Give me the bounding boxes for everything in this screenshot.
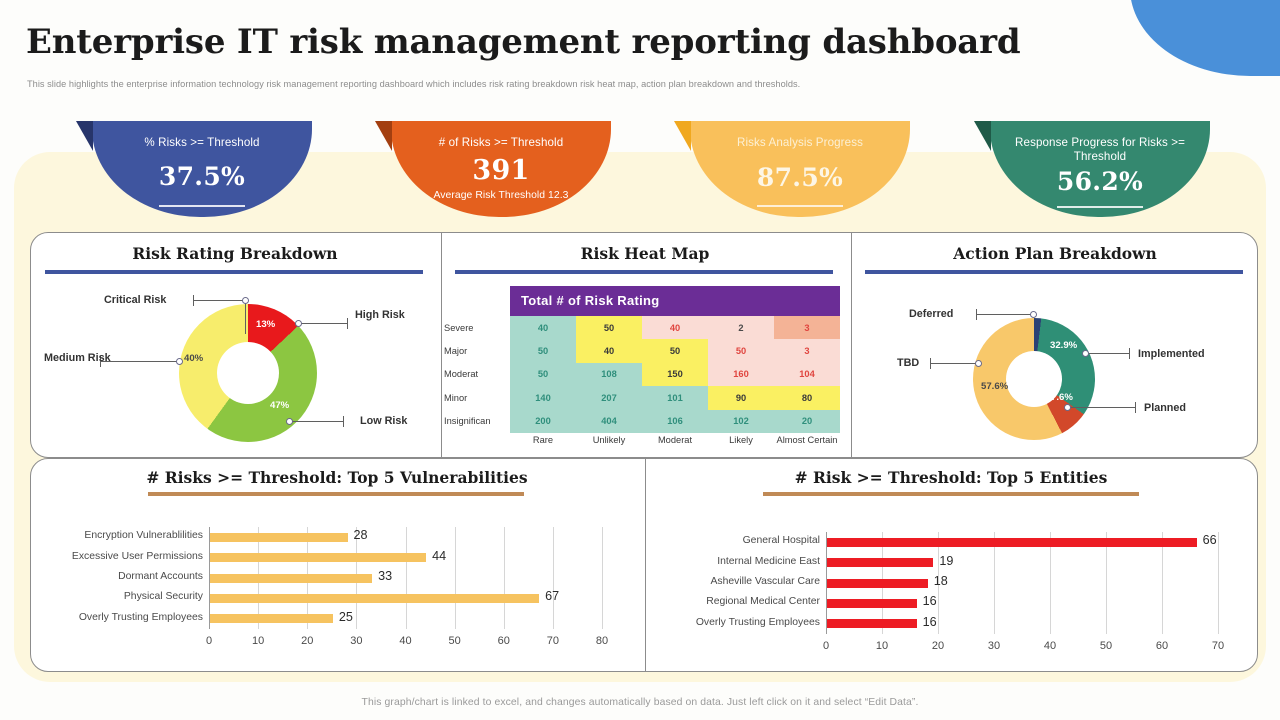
kpi-value: 56.2% bbox=[990, 167, 1210, 196]
leader-line bbox=[100, 361, 180, 362]
heatmap-cell: 40 bbox=[576, 339, 642, 362]
category-label: Excessive User Permissions bbox=[43, 551, 203, 562]
axis-tick-label: 80 bbox=[596, 635, 608, 647]
heatmap-cell: 207 bbox=[576, 386, 642, 409]
axis-tick-label: 20 bbox=[301, 635, 313, 647]
bar bbox=[210, 553, 426, 562]
heatmap-cell: 108 bbox=[576, 363, 642, 386]
axis-tick-label: 40 bbox=[1044, 640, 1056, 652]
leader-line bbox=[930, 363, 978, 364]
heatmap-cell: 20 bbox=[774, 410, 840, 433]
category-label: Dormant Accounts bbox=[43, 571, 203, 582]
kpi-underline bbox=[1057, 206, 1143, 208]
donut-slice-label-low: 47% bbox=[270, 400, 289, 411]
heatmap-row-label: Moderat bbox=[444, 363, 506, 386]
gridline bbox=[994, 532, 995, 634]
leader-dot bbox=[176, 358, 183, 365]
leader-dot bbox=[1030, 311, 1037, 318]
kpi-label: % Risks >= Threshold bbox=[92, 121, 312, 150]
panel-rule-heat-map bbox=[455, 270, 833, 274]
ribbon-fold bbox=[974, 121, 991, 151]
heatmap-cell: 3 bbox=[774, 316, 840, 339]
label-planned: Planned bbox=[1144, 402, 1186, 414]
heatmap-cell: 150 bbox=[642, 363, 708, 386]
footer-note: This graph/chart is linked to excel, and… bbox=[0, 697, 1280, 708]
category-label: Asheville Vascular Care bbox=[660, 576, 820, 587]
panel-rule-top-entities bbox=[763, 492, 1139, 496]
bar-value-label: 44 bbox=[432, 549, 446, 563]
heatmap-cell: 80 bbox=[774, 386, 840, 409]
heatmap-cell: 102 bbox=[708, 410, 774, 433]
leader-dot bbox=[1082, 350, 1089, 357]
bar bbox=[827, 599, 917, 608]
leader-cap bbox=[930, 358, 931, 369]
leader-line bbox=[1068, 407, 1136, 408]
category-label: Overly Trusting Employees bbox=[43, 612, 203, 623]
bar-value-label: 25 bbox=[339, 610, 353, 624]
slide-root: Enterprise IT risk management reporting … bbox=[0, 0, 1280, 720]
panel-title-heat-map: Risk Heat Map bbox=[440, 244, 850, 263]
bar-value-label: 16 bbox=[923, 615, 937, 629]
kpi-value: 87.5% bbox=[690, 163, 910, 192]
gridline bbox=[504, 527, 505, 629]
category-label: Physical Security bbox=[43, 591, 203, 602]
heatmap-column-label: Unlikely bbox=[576, 435, 642, 445]
axis-tick-label: 40 bbox=[399, 635, 411, 647]
heatmap-cell: 40 bbox=[642, 316, 708, 339]
category-label: General Hospital bbox=[660, 535, 820, 546]
panel-title-action-plan: Action Plan Breakdown bbox=[850, 244, 1260, 263]
gridline bbox=[455, 527, 456, 629]
axis-tick-label: 10 bbox=[876, 640, 888, 652]
decorative-blue-shape bbox=[1130, 0, 1280, 76]
label-deferred: Deferred bbox=[909, 308, 953, 320]
axis-tick-label: 70 bbox=[1212, 640, 1224, 652]
donut-hole bbox=[217, 342, 279, 404]
leader-line bbox=[245, 300, 246, 334]
heatmap-cell: 101 bbox=[642, 386, 708, 409]
bar bbox=[210, 533, 348, 542]
heatmap-column-label: Likely bbox=[708, 435, 774, 445]
heatmap-cell: 50 bbox=[510, 363, 576, 386]
kpi-underline bbox=[757, 205, 843, 207]
bar-value-label: 28 bbox=[354, 528, 368, 542]
label-high-risk: High Risk bbox=[355, 309, 405, 321]
heatmap-cell: 50 bbox=[708, 339, 774, 362]
axis-tick-label: 50 bbox=[449, 635, 461, 647]
label-low-risk: Low Risk bbox=[360, 415, 407, 427]
bar bbox=[827, 558, 933, 567]
leader-cap bbox=[347, 318, 348, 329]
heatmap-cell: 2 bbox=[708, 316, 774, 339]
kpi-label: Response Progress for Risks >= Threshold bbox=[990, 121, 1210, 164]
bar-value-label: 66 bbox=[1203, 533, 1217, 547]
panel-title-top-vulnerabilities: # Risks >= Threshold: Top 5 Vulnerabilit… bbox=[30, 468, 644, 487]
gridline bbox=[553, 527, 554, 629]
gridline bbox=[1106, 532, 1107, 634]
donut-slice-label-high: 13% bbox=[256, 319, 275, 330]
gridline bbox=[406, 527, 407, 629]
donut-slice-label-planned: 7.6% bbox=[1051, 392, 1073, 403]
heatmap-column-label: Rare bbox=[510, 435, 576, 445]
kpi-label: # of Risks >= Threshold bbox=[391, 121, 611, 150]
label-medium-risk: Medium Risk bbox=[44, 352, 111, 364]
heatmap-row-label: Severe bbox=[444, 316, 506, 339]
leader-dot bbox=[1064, 404, 1071, 411]
heatmap-cell: 50 bbox=[576, 316, 642, 339]
heatmap-row-labels: SevereMajorModeratMinorInsignifican bbox=[444, 316, 506, 433]
bar-value-label: 18 bbox=[934, 574, 948, 588]
kpi-subtext: Average Risk Threshold 12.3 bbox=[391, 190, 611, 201]
axis-tick-label: 60 bbox=[498, 635, 510, 647]
label-critical-risk: Critical Risk bbox=[104, 294, 166, 306]
leader-cap bbox=[1135, 402, 1136, 413]
leader-line bbox=[976, 314, 1034, 315]
heatmap-column-label: Almost Certain bbox=[774, 435, 840, 445]
donut-action-plan bbox=[973, 318, 1095, 440]
heatmap-cell: 50 bbox=[510, 339, 576, 362]
panel-title-top-entities: # Risk >= Threshold: Top 5 Entities bbox=[644, 468, 1258, 487]
panel-rule-top-vulnerabilities bbox=[148, 492, 524, 496]
gridline bbox=[1162, 532, 1163, 634]
leader-dot bbox=[286, 418, 293, 425]
leader-cap bbox=[1129, 348, 1130, 359]
leader-cap bbox=[976, 309, 977, 320]
heatmap-cell: 104 bbox=[774, 363, 840, 386]
heatmap-row-label: Major bbox=[444, 339, 506, 362]
bar bbox=[827, 579, 928, 588]
ribbon-fold bbox=[375, 121, 392, 151]
kpi-underline bbox=[159, 205, 245, 207]
gridline bbox=[602, 527, 603, 629]
heatmap-cell: 40 bbox=[510, 316, 576, 339]
card-divider bbox=[441, 233, 442, 457]
gridline bbox=[1050, 532, 1051, 634]
axis-tick-label: 60 bbox=[1156, 640, 1168, 652]
ribbon-fold bbox=[76, 121, 93, 151]
heatmap-column-label: Moderat bbox=[642, 435, 708, 445]
heatmap-header-title: Total # of Risk Rating bbox=[510, 286, 840, 316]
heatmap-cell: 200 bbox=[510, 410, 576, 433]
leader-cap bbox=[193, 295, 194, 306]
bottom-charts-card bbox=[30, 458, 1258, 672]
ribbon-fold bbox=[674, 121, 691, 151]
heatmap-cell: 106 bbox=[642, 410, 708, 433]
panel-rule-action-plan bbox=[865, 270, 1243, 274]
kpi-value: 37.5% bbox=[92, 162, 312, 191]
leader-cap bbox=[343, 416, 344, 427]
donut-slice-label-implemented: 32.9% bbox=[1050, 340, 1077, 351]
category-label: Encryption Vulnerablilities bbox=[43, 530, 203, 541]
leader-line bbox=[290, 421, 344, 422]
heatmap-cell: 140 bbox=[510, 386, 576, 409]
heatmap-cell: 160 bbox=[708, 363, 774, 386]
leader-dot bbox=[975, 360, 982, 367]
heatmap-cell: 50 bbox=[642, 339, 708, 362]
bar-value-label: 33 bbox=[378, 569, 392, 583]
page-subtitle: This slide highlights the enterprise inf… bbox=[27, 79, 800, 89]
axis-tick-label: 10 bbox=[252, 635, 264, 647]
axis-tick-label: 50 bbox=[1100, 640, 1112, 652]
bar bbox=[827, 538, 1197, 547]
kpi-value: 391 bbox=[391, 155, 611, 186]
page-title: Enterprise IT risk management reporting … bbox=[26, 22, 1020, 62]
donut-slice-label-tbd: 57.6% bbox=[981, 381, 1008, 392]
leader-line bbox=[1085, 353, 1130, 354]
bar bbox=[210, 614, 333, 623]
panel-rule-risk-rating bbox=[45, 270, 423, 274]
gridline bbox=[1218, 532, 1219, 634]
card-divider bbox=[851, 233, 852, 457]
donut-slice-label-medium: 40% bbox=[184, 353, 203, 364]
axis-tick-label: 20 bbox=[932, 640, 944, 652]
kpi-label: Risks Analysis Progress bbox=[690, 121, 910, 150]
card-divider bbox=[645, 459, 646, 671]
heatmap-row-label: Insignifican bbox=[444, 410, 506, 433]
bar-value-label: 67 bbox=[545, 589, 559, 603]
leader-dot bbox=[242, 297, 249, 304]
bar bbox=[210, 574, 372, 583]
label-tbd: TBD bbox=[897, 357, 919, 369]
category-label: Internal Medicine East bbox=[660, 556, 820, 567]
bar-value-label: 16 bbox=[923, 594, 937, 608]
category-label: Overly Trusting Employees bbox=[660, 617, 820, 628]
leader-line bbox=[298, 323, 348, 324]
axis-tick-label: 30 bbox=[988, 640, 1000, 652]
heatmap-row-label: Minor bbox=[444, 386, 506, 409]
heatmap-column-labels: RareUnlikelyModeratLikelyAlmost Certain bbox=[510, 435, 840, 445]
panel-title-risk-rating: Risk Rating Breakdown bbox=[30, 244, 440, 263]
bar bbox=[827, 619, 917, 628]
heatmap-grid: 4050402350405050350108150160104140207101… bbox=[510, 316, 840, 433]
leader-dot bbox=[295, 320, 302, 327]
axis-tick-label: 70 bbox=[547, 635, 559, 647]
leader-line bbox=[193, 300, 245, 301]
heatmap-cell: 3 bbox=[774, 339, 840, 362]
axis-tick-label: 0 bbox=[823, 640, 829, 652]
axis-tick-label: 0 bbox=[206, 635, 212, 647]
axis-tick-label: 30 bbox=[350, 635, 362, 647]
heatmap-cell: 90 bbox=[708, 386, 774, 409]
bar-value-label: 19 bbox=[939, 554, 953, 568]
heatmap-cell: 404 bbox=[576, 410, 642, 433]
bar bbox=[210, 594, 539, 603]
label-implemented: Implemented bbox=[1138, 348, 1205, 360]
category-label: Regional Medical Center bbox=[660, 596, 820, 607]
